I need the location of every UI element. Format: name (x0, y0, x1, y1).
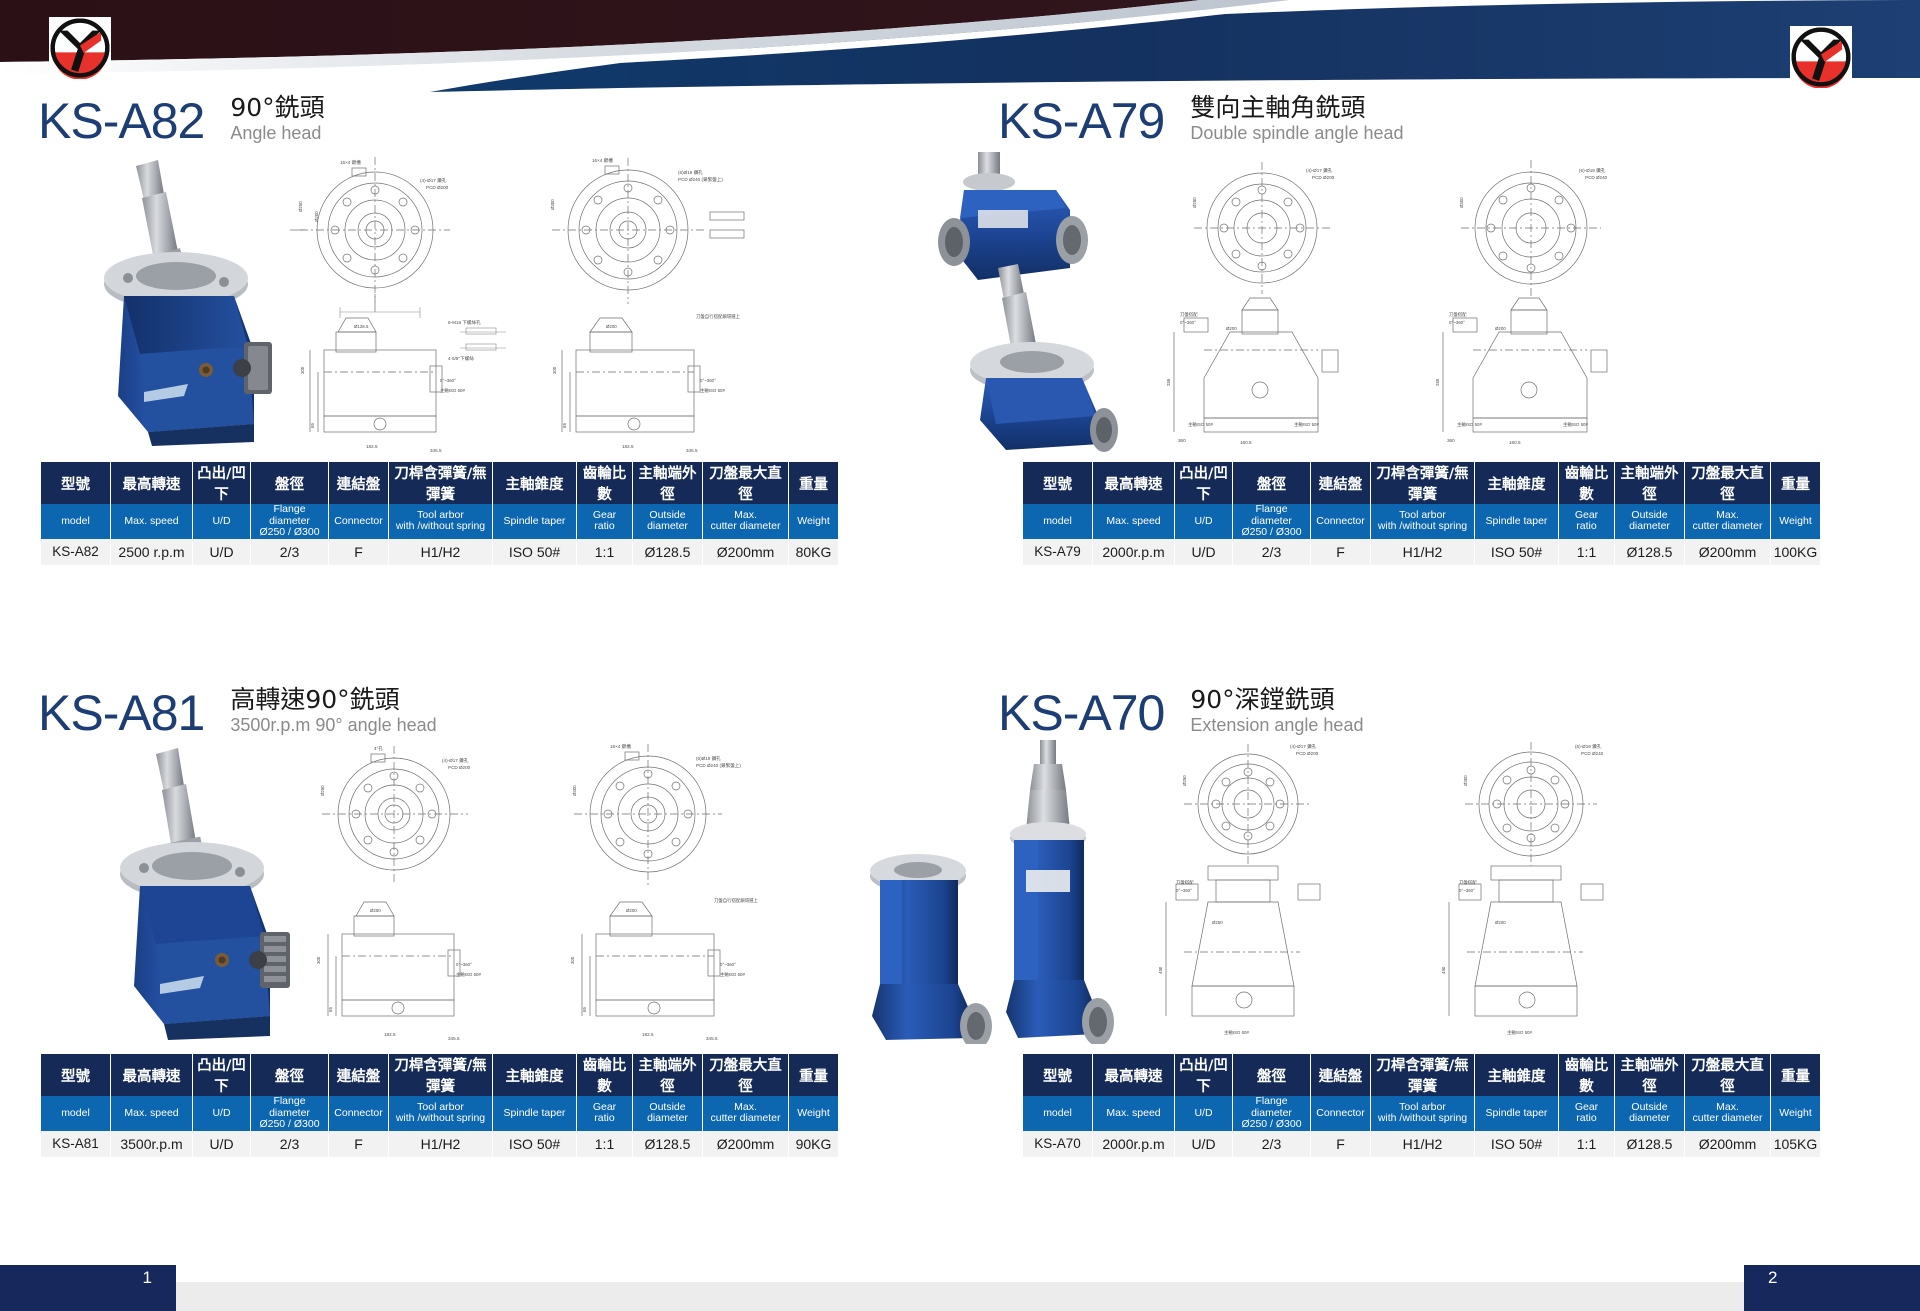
th-en-gear-ratio: Gearratio (577, 504, 633, 539)
cell-ud: U/D (1175, 539, 1233, 566)
th-cn-tool-arbor: 刀桿含彈簧/無彈簧 (389, 462, 493, 504)
svg-text:主軸ISO 50#: 主軸ISO 50# (1224, 1029, 1249, 1036)
svg-text:Ø300: Ø300 (1463, 775, 1468, 786)
th-cn-tool-arbor: 刀桿含彈簧/無彈簧 (1371, 462, 1475, 504)
svg-text:Ø250: Ø250 (370, 908, 381, 913)
svg-text:16×4 鍵槽: 16×4 鍵槽 (610, 743, 631, 750)
svg-text:Ø300: Ø300 (572, 785, 577, 796)
svg-text:刀盤搭配: 刀盤搭配 (1176, 879, 1194, 886)
table-header-cn-row: 型號 最高轉速 凸出/凹下 盤徑 連結盤 刀桿含彈簧/無彈簧 主軸錐度 齒輪比數… (41, 462, 839, 504)
th-en-tool-arbor: Tool arborwith /without spring (1371, 1096, 1475, 1131)
cell-tool-arbor: H1/H2 (1371, 539, 1475, 566)
svg-text:刀盤搭配: 刀盤搭配 (1180, 311, 1198, 318)
cell-ud: U/D (193, 539, 251, 566)
svg-text:Ø250: Ø250 (298, 201, 303, 212)
th-en-max-speed: Max. speed (111, 1096, 193, 1131)
svg-text:160.5: 160.5 (1509, 440, 1521, 445)
product-block-ks-a82: KS-A82 90°銑頭 Angle head (0, 80, 960, 452)
company-logo-right (1790, 26, 1852, 88)
svg-text:Ø200: Ø200 (314, 211, 319, 222)
drawings-ks-a81: (4)-Ø17 鑽孔 PCD Ø200 4°孔 Ø250 300 65 (296, 740, 796, 1040)
th-cn-max-cutter: 刀盤最大直徑 (1685, 462, 1771, 504)
cell-connector: F (1311, 539, 1371, 566)
svg-text:(4)-Ø17 鑽孔: (4)-Ø17 鑽孔 (442, 757, 469, 764)
svg-text:主軸ISO 50#: 主軸ISO 50# (720, 971, 745, 978)
svg-text:PCD Ø200: PCD Ø200 (448, 765, 471, 770)
th-cn-flange: 盤徑 (1233, 1054, 1311, 1096)
svg-text:16×4 鍵槽: 16×4 鍵槽 (592, 157, 613, 164)
product-title-cn: 90°銑頭 (230, 94, 324, 122)
cell-model: KS-A79 (1023, 539, 1093, 566)
model-code: KS-A79 (998, 96, 1164, 146)
th-en-gear-ratio: Gearratio (1559, 1096, 1615, 1131)
svg-text:182.5: 182.5 (642, 1032, 654, 1037)
svg-text:(4)-Ø17 鑽孔: (4)-Ø17 鑽孔 (1290, 743, 1317, 750)
cell-spindle-taper: ISO 50# (493, 1131, 577, 1158)
th-cn-spindle-taper: 主軸錐度 (1475, 462, 1559, 504)
th-cn-tool-arbor: 刀桿含彈簧/無彈簧 (389, 1054, 493, 1096)
svg-text:刀盤自行搭配鎖環選上: 刀盤自行搭配鎖環選上 (696, 313, 741, 320)
th-en-model: model (41, 504, 111, 539)
svg-text:刀盤搭配: 刀盤搭配 (1459, 879, 1477, 886)
th-cn-model: 型號 (41, 462, 111, 504)
svg-text:65: 65 (582, 1007, 587, 1012)
cell-flange-diameter: 2/3 (1233, 1131, 1311, 1158)
product-title-cn: 雙向主軸角銑頭 (1190, 94, 1403, 122)
table-row: KS-A79 2000r.p.m U/D 2/3 F H1/H2 ISO 50#… (1023, 539, 1821, 566)
cell-connector: F (329, 1131, 389, 1158)
cell-model: KS-A70 (1023, 1131, 1093, 1158)
spec-table-wrap-ks-a81: 型號 最高轉速 凸出/凹下 盤徑 連結盤 刀桿含彈簧/無彈簧 主軸錐度 齒輪比數… (40, 1054, 839, 1158)
th-en-spindle-taper: Spindle taper (493, 1096, 577, 1131)
svg-text:300: 300 (300, 366, 305, 374)
th-en-max-speed: Max. speed (1093, 1096, 1175, 1131)
svg-text:刀盤自行搭配鎖環選上: 刀盤自行搭配鎖環選上 (714, 897, 759, 904)
cell-max-cutter-diameter: Ø200mm (703, 539, 789, 566)
svg-text:PCD Ø240: PCD Ø240 (1581, 751, 1604, 756)
footer-strip (0, 1282, 1920, 1311)
svg-text:Ø250: Ø250 (320, 785, 325, 796)
product-block-ks-a81: KS-A81 高轉速90°銑頭 3500r.p.m 90° angle head (0, 672, 960, 1044)
svg-text:主軸ISO 50#: 主軸ISO 50# (1457, 421, 1482, 428)
cell-outside-diameter: Ø128.5 (633, 1131, 703, 1158)
th-cn-gear-ratio: 齒輪比數 (577, 462, 633, 504)
th-en-max-cutter: Max.cutter diameter (703, 1096, 789, 1131)
th-cn-ud: 凸出/凹下 (1175, 462, 1233, 504)
cell-weight: 105KG (1771, 1131, 1821, 1158)
cell-weight: 80KG (789, 539, 839, 566)
table-header-en-row: model Max. speed U/D Flange diameterØ250… (41, 1096, 839, 1131)
product-title-cn: 90°深鏜銑頭 (1190, 686, 1363, 714)
table-header-en-row: model Max. speed U/D Flange diameterØ250… (41, 504, 839, 539)
cell-gear-ratio: 1:1 (1559, 1131, 1615, 1158)
svg-text:Ø250: Ø250 (1212, 920, 1223, 925)
technical-drawing-section-ks-a81: 16×4 鍵槽 (6)Ø19 鑽孔 PCD Ø240 (鎖緊盤上) Ø300 3… (546, 740, 796, 1040)
th-cn-spindle-taper: 主軸錐度 (493, 1054, 577, 1096)
page-header (0, 0, 1920, 92)
svg-text:0°~360°: 0°~360° (1459, 888, 1475, 893)
th-cn-model: 型號 (1023, 462, 1093, 504)
th-cn-max-cutter: 刀盤最大直徑 (1685, 1054, 1771, 1096)
th-en-spindle-taper: Spindle taper (1475, 504, 1559, 539)
svg-text:(4)-Ø17 鑽孔: (4)-Ø17 鑽孔 (420, 177, 447, 184)
table-row: KS-A81 3500r.p.m U/D 2/3 F H1/H2 ISO 50#… (41, 1131, 839, 1158)
th-cn-weight: 重量 (1771, 462, 1821, 504)
svg-text:0°~360°: 0°~360° (720, 962, 736, 967)
svg-text:65: 65 (562, 423, 567, 428)
svg-text:PCD Ø200: PCD Ø200 (426, 185, 449, 190)
th-en-tool-arbor: Tool arborwith /without spring (389, 1096, 493, 1131)
product-photo-ks-a81 (60, 746, 300, 1047)
th-en-outside-diameter: Outsidediameter (1615, 504, 1685, 539)
th-en-flange: Flange diameterØ250 / Ø300 (251, 1096, 329, 1131)
svg-text:0°~360°: 0°~360° (700, 378, 716, 383)
company-logo-icon (1790, 26, 1852, 88)
cell-connector: F (1311, 1131, 1371, 1158)
drawings-ks-a70: (4)-Ø17 鑽孔 PCD Ø200 Ø250 490 刀盤搭配 0°~360… (1140, 734, 1688, 1044)
svg-text:Ø300: Ø300 (550, 199, 555, 210)
product-title-en: 3500r.p.m 90° angle head (230, 715, 436, 736)
svg-text:300: 300 (570, 956, 575, 964)
svg-text:刀盤搭配: 刀盤搭配 (1449, 311, 1467, 318)
svg-text:(6)-Ø19 鑽孔: (6)-Ø19 鑽孔 (1575, 743, 1602, 750)
svg-text:300: 300 (552, 366, 557, 374)
svg-text:345.5: 345.5 (448, 1036, 460, 1040)
th-cn-outside-diameter: 主軸端外徑 (1615, 462, 1685, 504)
th-cn-gear-ratio: 齒輪比數 (1559, 1054, 1615, 1096)
product-title-ks-a70: KS-A70 90°深鏜銑頭 Extension angle head (960, 672, 1920, 738)
product-title-cn: 高轉速90°銑頭 (230, 686, 436, 714)
svg-text:65: 65 (328, 1007, 333, 1012)
cell-model: KS-A82 (41, 539, 111, 566)
th-en-max-speed: Max. speed (111, 504, 193, 539)
cell-tool-arbor: H1/H2 (1371, 1131, 1475, 1158)
technical-drawing-section-ks-a70: (6)-Ø19 鑽孔 PCD Ø240 Ø300 490 刀盤搭配 0°~360… (1423, 734, 1688, 1044)
th-cn-connector: 連結盤 (329, 1054, 389, 1096)
cell-connector: F (329, 539, 389, 566)
th-en-connector: Connector (1311, 1096, 1371, 1131)
cell-max-cutter-diameter: Ø200mm (1685, 1131, 1771, 1158)
svg-text:主軸ISO 50#: 主軸ISO 50# (456, 971, 481, 978)
svg-text:主軸ISO 50#: 主軸ISO 50# (1188, 421, 1213, 428)
cell-max-cutter-diameter: Ø200mm (703, 1131, 789, 1158)
model-code: KS-A82 (38, 96, 204, 146)
table-header-cn-row: 型號 最高轉速 凸出/凹下 盤徑 連結盤 刀桿含彈簧/無彈簧 主軸錐度 齒輪比數… (41, 1054, 839, 1096)
spec-table-wrap-ks-a82: 型號 最高轉速 凸出/凹下 盤徑 連結盤 刀桿含彈簧/無彈簧 主軸錐度 齒輪比數… (40, 462, 839, 566)
svg-text:4°孔: 4°孔 (374, 745, 383, 752)
svg-text:Ø250: Ø250 (1182, 775, 1187, 786)
svg-text:Ø200: Ø200 (626, 908, 637, 913)
svg-text:182.5: 182.5 (384, 1032, 396, 1037)
svg-text:主軸ISO 50#: 主軸ISO 50# (1563, 421, 1588, 428)
th-en-flange: Flange diameterØ250 / Ø300 (1233, 1096, 1311, 1131)
th-cn-outside-diameter: 主軸端外徑 (633, 1054, 703, 1096)
cell-ud: U/D (1175, 1131, 1233, 1158)
th-en-gear-ratio: Gearratio (577, 1096, 633, 1131)
cell-spindle-taper: ISO 50# (493, 539, 577, 566)
th-en-ud: U/D (1175, 1096, 1233, 1131)
cell-flange-diameter: 2/3 (251, 1131, 329, 1158)
svg-text:Ø250: Ø250 (1192, 197, 1197, 208)
th-en-tool-arbor: Tool arborwith /without spring (1371, 504, 1475, 539)
product-photo-ks-a79 (860, 148, 1180, 463)
cell-tool-arbor: H1/H2 (389, 1131, 493, 1158)
th-cn-ud: 凸出/凹下 (1175, 1054, 1233, 1096)
svg-text:300: 300 (316, 956, 321, 964)
header-banner-graphic (0, 0, 1920, 92)
th-en-flange: Flange diameterØ250 / Ø300 (251, 504, 329, 539)
svg-text:0°~360°: 0°~360° (1449, 320, 1465, 325)
th-cn-model: 型號 (1023, 1054, 1093, 1096)
technical-drawing-front-ks-a70: (4)-Ø17 鑽孔 PCD Ø200 Ø250 490 刀盤搭配 0°~360… (1140, 734, 1405, 1044)
th-cn-weight: 重量 (789, 462, 839, 504)
page-number-left-box: 1 (0, 1265, 176, 1311)
svg-text:182.5: 182.5 (366, 444, 378, 449)
cell-outside-diameter: Ø128.5 (1615, 1131, 1685, 1158)
product-title-en: Double spindle angle head (1190, 123, 1403, 144)
page-footer: 1 2 (0, 1265, 1920, 1311)
model-code: KS-A70 (998, 688, 1164, 738)
svg-text:(6)-Ø19 鑽孔: (6)-Ø19 鑽孔 (1579, 167, 1606, 174)
cell-max-speed: 3500r.p.m (111, 1131, 193, 1158)
th-en-model: model (1023, 1096, 1093, 1131)
product-title-en: Angle head (230, 123, 324, 144)
table-header-en-row: model Max. speed U/D Flange diameterØ250… (1023, 1096, 1821, 1131)
th-cn-flange: 盤徑 (251, 462, 329, 504)
svg-text:Ø300: Ø300 (1459, 197, 1464, 208)
cell-max-speed: 2000r.p.m (1093, 539, 1175, 566)
spec-table-ks-a82: 型號 最高轉速 凸出/凹下 盤徑 連結盤 刀桿含彈簧/無彈簧 主軸錐度 齒輪比數… (40, 462, 839, 566)
product-block-ks-a70: KS-A70 90°深鏜銑頭 Extension angle head (960, 672, 1920, 1044)
th-cn-weight: 重量 (789, 1054, 839, 1096)
th-cn-flange: 盤徑 (251, 1054, 329, 1096)
svg-text:主軸ISO 50#: 主軸ISO 50# (440, 387, 465, 394)
svg-text:PCD Ø240: PCD Ø240 (1585, 175, 1608, 180)
th-en-max-cutter: Max.cutter diameter (703, 504, 789, 539)
svg-text:Ø200: Ø200 (1226, 326, 1237, 331)
cell-gear-ratio: 1:1 (577, 1131, 633, 1158)
th-cn-gear-ratio: 齒輪比數 (577, 1054, 633, 1096)
svg-text:360: 360 (1178, 438, 1186, 443)
svg-text:PCD Ø240 (鎖緊盤上): PCD Ø240 (鎖緊盤上) (678, 176, 723, 183)
svg-text:345.5: 345.5 (706, 1036, 718, 1040)
th-en-gear-ratio: Gearratio (1559, 504, 1615, 539)
th-en-model: model (1023, 504, 1093, 539)
technical-drawing-section-ks-a82: 16×4 鍵槽 (6)Ø19 鑽孔 PCD Ø240 (鎖緊盤上) Ø300 3… (528, 152, 778, 452)
svg-text:Ø200: Ø200 (1495, 326, 1506, 331)
table-row: KS-A70 2000r.p.m U/D 2/3 F H1/H2 ISO 50#… (1023, 1131, 1821, 1158)
figure-area-ks-a79: (4)-Ø17 鑽孔 PCD Ø200 Ø250 255 刀盤搭配 (960, 152, 1920, 452)
table-row: KS-A82 2500 r.p.m U/D 2/3 F H1/H2 ISO 50… (41, 539, 839, 566)
svg-text:0°~360°: 0°~360° (440, 378, 456, 383)
cell-weight: 90KG (789, 1131, 839, 1158)
th-cn-gear-ratio: 齒輪比數 (1559, 462, 1615, 504)
svg-text:0°~360°: 0°~360° (1180, 320, 1196, 325)
product-photo-ks-a70 (840, 734, 1170, 1049)
table-header-en-row: model Max. speed U/D Flange diameterØ250… (1023, 504, 1821, 539)
th-cn-ud: 凸出/凹下 (193, 1054, 251, 1096)
th-en-max-speed: Max. speed (1093, 504, 1175, 539)
th-cn-outside-diameter: 主軸端外徑 (1615, 1054, 1685, 1096)
th-en-model: model (41, 1096, 111, 1131)
th-en-spindle-taper: Spindle taper (1475, 1096, 1559, 1131)
svg-text:255: 255 (1166, 378, 1171, 386)
th-cn-spindle-taper: 主軸錐度 (493, 462, 577, 504)
cell-outside-diameter: Ø128.5 (1615, 539, 1685, 566)
technical-drawing-front-ks-a79: (4)-Ø17 鑽孔 PCD Ø200 Ø250 255 刀盤搭配 (1160, 156, 1415, 446)
th-en-weight: Weight (789, 1096, 839, 1131)
cell-tool-arbor: H1/H2 (389, 539, 493, 566)
th-cn-model: 型號 (41, 1054, 111, 1096)
svg-text:(6)Ø19 鑽孔: (6)Ø19 鑽孔 (678, 169, 703, 176)
th-cn-ud: 凸出/凹下 (193, 462, 251, 504)
th-en-weight: Weight (1771, 504, 1821, 539)
th-en-spindle-taper: Spindle taper (493, 504, 577, 539)
svg-text:6-M18 下螺絲孔: 6-M18 下螺絲孔 (448, 319, 481, 326)
model-code: KS-A81 (38, 688, 204, 738)
technical-drawing-section-ks-a79: (6)-Ø19 鑽孔 PCD Ø240 Ø300 255 刀盤搭配 0°~360… (1429, 156, 1684, 446)
svg-text:65: 65 (310, 423, 315, 428)
table-header-cn-row: 型號 最高轉速 凸出/凹下 盤徑 連結盤 刀桿含彈簧/無彈簧 主軸錐度 齒輪比數… (1023, 1054, 1821, 1096)
product-title-ks-a79: KS-A79 雙向主軸角銑頭 Double spindle angle head (960, 80, 1920, 146)
table-header-cn-row: 型號 最高轉速 凸出/凹下 盤徑 連結盤 刀桿含彈簧/無彈簧 主軸錐度 齒輪比數… (1023, 462, 1821, 504)
th-cn-connector: 連結盤 (329, 462, 389, 504)
page-number-right: 2 (1768, 1268, 1777, 1288)
svg-text:主軸ISO 50#: 主軸ISO 50# (1294, 421, 1319, 428)
svg-text:(6)Ø19 鑽孔: (6)Ø19 鑽孔 (696, 755, 721, 762)
svg-text:0°~360°: 0°~360° (1176, 888, 1192, 893)
svg-text:PCD Ø200: PCD Ø200 (1296, 751, 1319, 756)
spec-table-wrap-ks-a79: 型號 最高轉速 凸出/凹下 盤徑 連結盤 刀桿含彈簧/無彈簧 主軸錐度 齒輪比數… (1022, 462, 1821, 566)
svg-text:182.5: 182.5 (622, 444, 634, 449)
th-en-connector: Connector (329, 504, 389, 539)
page-number-right-box: 2 (1744, 1265, 1920, 1311)
th-cn-flange: 盤徑 (1233, 462, 1311, 504)
company-logo-icon (49, 17, 111, 79)
product-title-ks-a81: KS-A81 高轉速90°銑頭 3500r.p.m 90° angle head (0, 672, 960, 738)
th-en-max-cutter: Max.cutter diameter (1685, 1096, 1771, 1131)
product-title-ks-a82: KS-A82 90°銑頭 Angle head (0, 80, 960, 146)
cell-max-speed: 2000r.p.m (1093, 1131, 1175, 1158)
svg-text:160.5: 160.5 (1240, 440, 1252, 445)
th-en-outside-diameter: Outsidediameter (633, 504, 703, 539)
th-cn-max-speed: 最高轉速 (1093, 1054, 1175, 1096)
svg-text:(4)-Ø17 鑽孔: (4)-Ø17 鑽孔 (1306, 167, 1333, 174)
cell-model: KS-A81 (41, 1131, 111, 1158)
svg-text:主軸ISO 50#: 主軸ISO 50# (700, 387, 725, 394)
th-cn-outside-diameter: 主軸端外徑 (633, 462, 703, 504)
product-block-ks-a79: KS-A79 雙向主軸角銑頭 Double spindle angle head (960, 80, 1920, 452)
th-cn-max-cutter: 刀盤最大直徑 (703, 462, 789, 504)
svg-text:主軸ISO 50#: 主軸ISO 50# (1507, 1029, 1532, 1036)
svg-text:0°~360°: 0°~360° (456, 962, 472, 967)
drawings-ks-a79: (4)-Ø17 鑽孔 PCD Ø200 Ø250 255 刀盤搭配 (1160, 156, 1684, 446)
cell-spindle-taper: ISO 50# (1475, 1131, 1559, 1158)
cell-outside-diameter: Ø128.5 (633, 539, 703, 566)
spec-table-wrap-ks-a70: 型號 最高轉速 凸出/凹下 盤徑 連結盤 刀桿含彈簧/無彈簧 主軸錐度 齒輪比數… (1022, 1054, 1821, 1158)
th-en-weight: Weight (789, 504, 839, 539)
page-number-left: 1 (143, 1268, 152, 1288)
company-logo-left (49, 17, 111, 79)
drawings-ks-a82: 16×4 鍵槽 (4)-Ø17 鑽孔 PCD Ø200 6-M18 下螺絲孔 4… (280, 152, 778, 452)
th-cn-max-speed: 最高轉速 (111, 462, 193, 504)
svg-text:PCD Ø240 (鎖緊盤上): PCD Ø240 (鎖緊盤上) (696, 762, 741, 769)
th-cn-weight: 重量 (1771, 1054, 1821, 1096)
th-en-connector: Connector (329, 1096, 389, 1131)
svg-text:16×4 鍵槽: 16×4 鍵槽 (340, 159, 361, 166)
svg-text:4-5/8"下螺絲: 4-5/8"下螺絲 (448, 355, 474, 362)
svg-text:Ø128.5: Ø128.5 (354, 324, 369, 329)
cell-ud: U/D (193, 1131, 251, 1158)
figure-area-ks-a81: (4)-Ø17 鑽孔 PCD Ø200 4°孔 Ø250 300 65 (0, 744, 960, 1044)
svg-text:490: 490 (1158, 966, 1163, 974)
svg-text:255: 255 (1435, 378, 1440, 386)
th-en-max-cutter: Max.cutter diameter (1685, 504, 1771, 539)
th-en-tool-arbor: Tool arborwith /without spring (389, 504, 493, 539)
th-cn-tool-arbor: 刀桿含彈簧/無彈簧 (1371, 1054, 1475, 1096)
cell-max-cutter-diameter: Ø200mm (1685, 539, 1771, 566)
cell-gear-ratio: 1:1 (1559, 539, 1615, 566)
th-en-flange: Flange diameterØ250 / Ø300 (1233, 504, 1311, 539)
figure-area-ks-a70: (4)-Ø17 鑽孔 PCD Ø200 Ø250 490 刀盤搭配 0°~360… (960, 744, 1920, 1044)
technical-drawing-front-ks-a81: (4)-Ø17 鑽孔 PCD Ø200 4°孔 Ø250 300 65 (296, 740, 536, 1040)
cell-flange-diameter: 2/3 (1233, 539, 1311, 566)
svg-text:Ø200: Ø200 (1495, 920, 1506, 925)
th-en-connector: Connector (1311, 504, 1371, 539)
th-en-ud: U/D (193, 1096, 251, 1131)
th-cn-connector: 連結盤 (1311, 462, 1371, 504)
th-en-ud: U/D (193, 504, 251, 539)
figure-area-ks-a82: 16×4 鍵槽 (4)-Ø17 鑽孔 PCD Ø200 6-M18 下螺絲孔 4… (0, 152, 960, 452)
svg-text:PCD Ø200: PCD Ø200 (1312, 175, 1335, 180)
th-cn-connector: 連結盤 (1311, 1054, 1371, 1096)
svg-text:490: 490 (1441, 966, 1446, 974)
th-en-ud: U/D (1175, 504, 1233, 539)
svg-text:345.5: 345.5 (686, 448, 698, 452)
spec-table-ks-a70: 型號 最高轉速 凸出/凹下 盤徑 連結盤 刀桿含彈簧/無彈簧 主軸錐度 齒輪比數… (1022, 1054, 1821, 1158)
th-en-weight: Weight (1771, 1096, 1821, 1131)
svg-text:360: 360 (1447, 438, 1455, 443)
th-cn-spindle-taper: 主軸錐度 (1475, 1054, 1559, 1096)
th-cn-max-cutter: 刀盤最大直徑 (703, 1054, 789, 1096)
cell-spindle-taper: ISO 50# (1475, 539, 1559, 566)
th-cn-max-speed: 最高轉速 (111, 1054, 193, 1096)
svg-text:345.5: 345.5 (430, 448, 442, 452)
cell-gear-ratio: 1:1 (577, 539, 633, 566)
svg-text:Ø200: Ø200 (606, 324, 617, 329)
cell-flange-diameter: 2/3 (251, 539, 329, 566)
product-photo-ks-a82 (48, 156, 278, 451)
th-cn-max-speed: 最高轉速 (1093, 462, 1175, 504)
th-en-outside-diameter: Outsidediameter (1615, 1096, 1685, 1131)
technical-drawing-front-ks-a82: 16×4 鍵槽 (4)-Ø17 鑽孔 PCD Ø200 6-M18 下螺絲孔 4… (280, 152, 520, 452)
spec-table-ks-a79: 型號 最高轉速 凸出/凹下 盤徑 連結盤 刀桿含彈簧/無彈簧 主軸錐度 齒輪比數… (1022, 462, 1821, 566)
product-title-en: Extension angle head (1190, 715, 1363, 736)
spec-table-ks-a81: 型號 最高轉速 凸出/凹下 盤徑 連結盤 刀桿含彈簧/無彈簧 主軸錐度 齒輪比數… (40, 1054, 839, 1158)
cell-weight: 100KG (1771, 539, 1821, 566)
th-en-outside-diameter: Outsidediameter (633, 1096, 703, 1131)
cell-max-speed: 2500 r.p.m (111, 539, 193, 566)
